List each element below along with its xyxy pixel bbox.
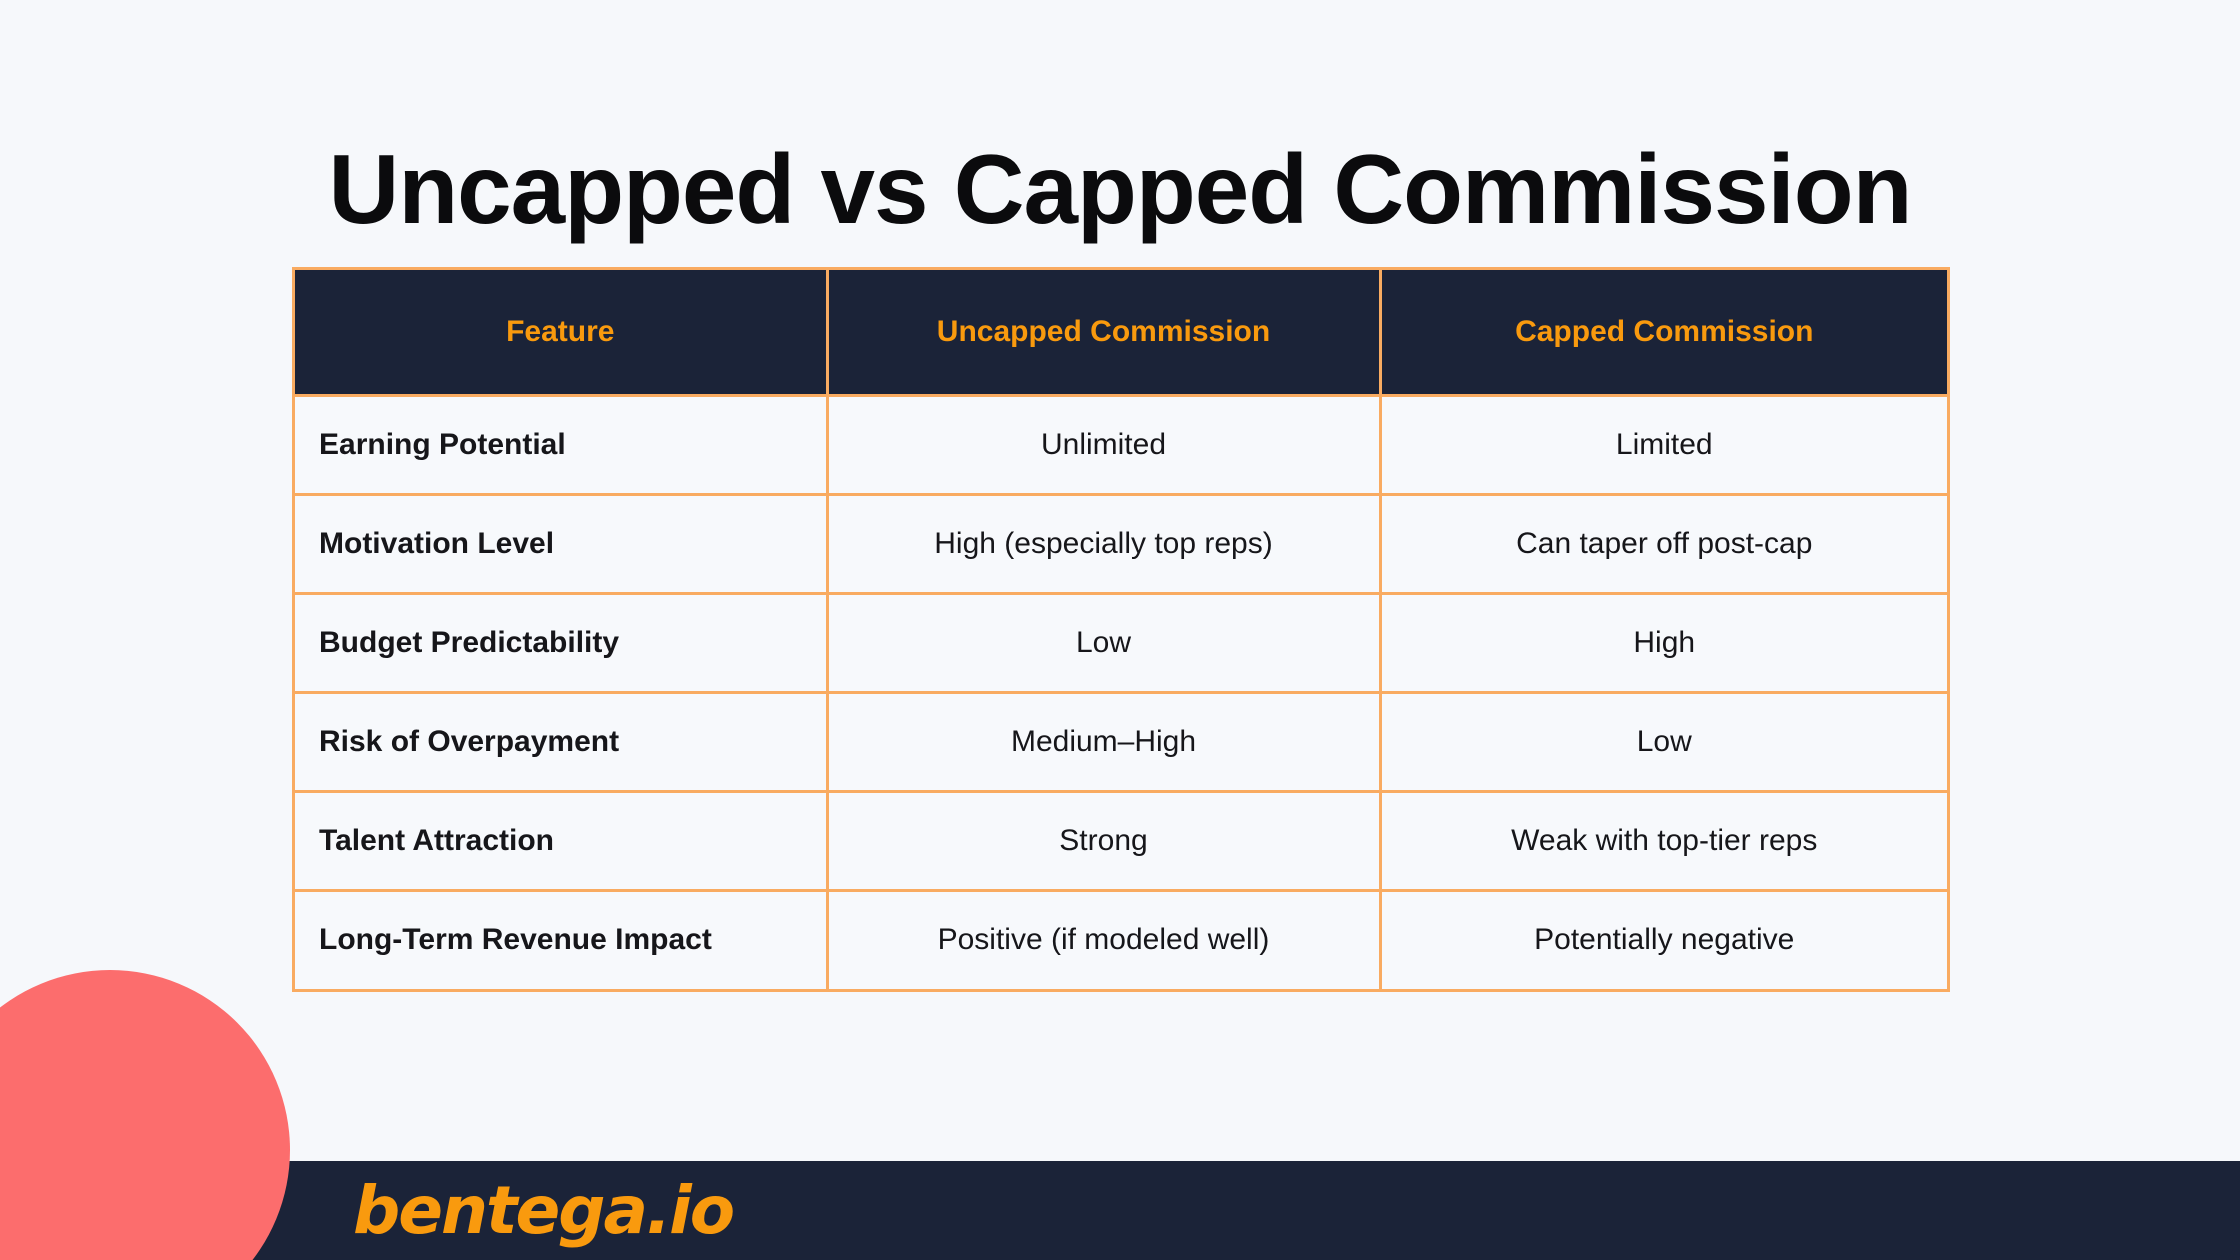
table-row: Talent Attraction Strong Weak with top-t… — [295, 791, 1947, 890]
cell-capped: Weak with top-tier reps — [1380, 791, 1947, 890]
table-header: Feature Uncapped Commission Capped Commi… — [295, 270, 1947, 395]
table-body: Earning Potential Unlimited Limited Moti… — [295, 395, 1947, 989]
cell-feature: Motivation Level — [295, 494, 827, 593]
table-row: Long-Term Revenue Impact Positive (if mo… — [295, 890, 1947, 989]
bentega-logo[interactable]: bentega.io — [353, 1164, 733, 1258]
cell-capped: Can taper off post-cap — [1380, 494, 1947, 593]
cell-feature: Long-Term Revenue Impact — [295, 890, 827, 989]
cell-feature: Talent Attraction — [295, 791, 827, 890]
cell-capped: Limited — [1380, 395, 1947, 494]
cell-capped: Potentially negative — [1380, 890, 1947, 989]
page-title: Uncapped vs Capped Commission — [0, 138, 2240, 241]
table-row: Budget Predictability Low High — [295, 593, 1947, 692]
coral-circle-decoration — [0, 970, 290, 1260]
footer-bar — [0, 1161, 2240, 1260]
table-row: Risk of Overpayment Medium–High Low — [295, 692, 1947, 791]
cell-capped: Low — [1380, 692, 1947, 791]
cell-feature: Risk of Overpayment — [295, 692, 827, 791]
slide-canvas: Uncapped vs Capped Commission Feature Un… — [0, 0, 2240, 1260]
column-header-uncapped-commission: Uncapped Commission — [827, 270, 1380, 395]
column-header-feature: Feature — [295, 270, 827, 395]
comparison-table: Feature Uncapped Commission Capped Commi… — [295, 270, 1947, 989]
cell-feature: Earning Potential — [295, 395, 827, 494]
cell-capped: High — [1380, 593, 1947, 692]
table-row: Earning Potential Unlimited Limited — [295, 395, 1947, 494]
cell-uncapped: Medium–High — [827, 692, 1380, 791]
cell-uncapped: Positive (if modeled well) — [827, 890, 1380, 989]
table-header-row: Feature Uncapped Commission Capped Commi… — [295, 270, 1947, 395]
cell-uncapped: Strong — [827, 791, 1380, 890]
cell-uncapped: High (especially top reps) — [827, 494, 1380, 593]
cell-uncapped: Unlimited — [827, 395, 1380, 494]
column-header-capped-commission: Capped Commission — [1380, 270, 1947, 395]
comparison-table-container: Feature Uncapped Commission Capped Commi… — [292, 267, 1950, 992]
table-row: Motivation Level High (especially top re… — [295, 494, 1947, 593]
cell-uncapped: Low — [827, 593, 1380, 692]
cell-feature: Budget Predictability — [295, 593, 827, 692]
